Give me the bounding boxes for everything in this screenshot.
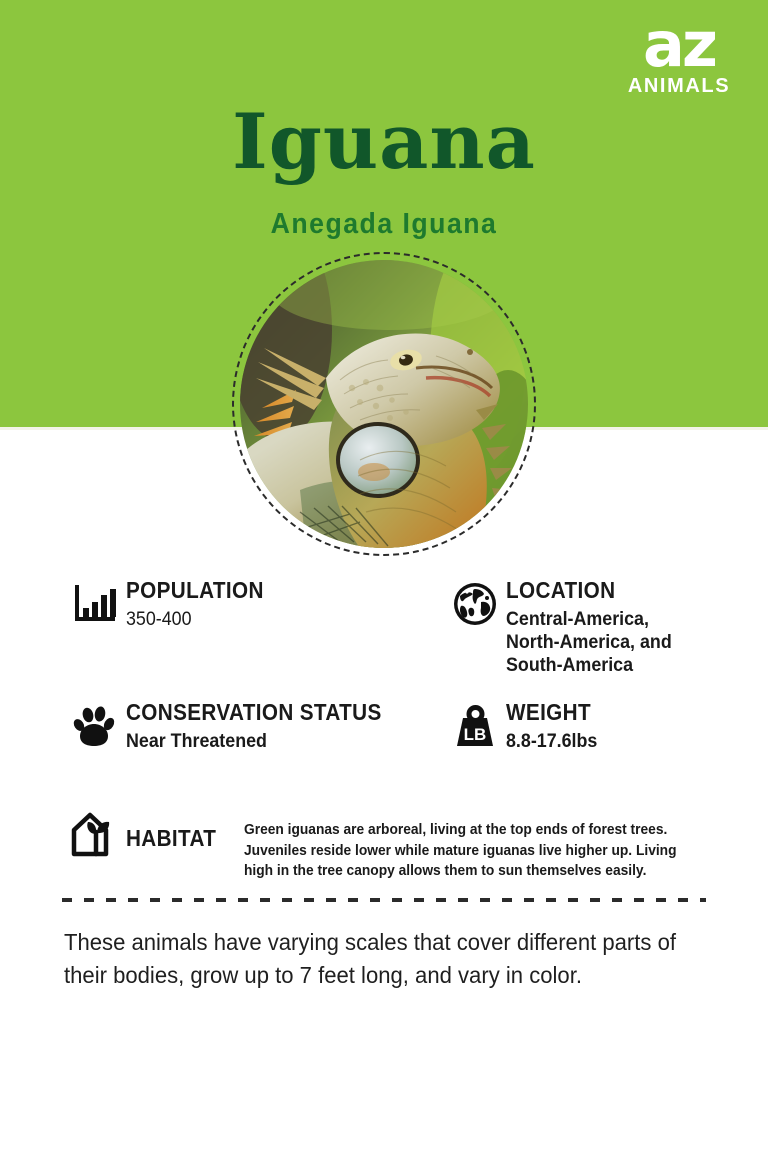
- photo-dashed-ring: [232, 252, 536, 556]
- fact-weight-body: WEIGHT 8.8-17.6lbs: [506, 700, 754, 753]
- page-title: Iguana: [0, 104, 768, 180]
- animal-photo: [232, 252, 536, 556]
- fact-weight-value: 8.8-17.6lbs: [506, 730, 739, 753]
- globe-icon: [444, 578, 506, 628]
- fact-habitat: HABITAT Green iguanas are arboreal, livi…: [64, 806, 724, 882]
- az-animals-logo[interactable]: az ANIMALS: [616, 18, 742, 98]
- fact-conservation-label: CONSERVATION STATUS: [126, 700, 412, 724]
- fact-population: POPULATION 350-400: [64, 578, 424, 631]
- fact-habitat-value: Green iguanas are arboreal, living at th…: [244, 806, 700, 882]
- fact-habitat-label-box: HABITAT: [126, 806, 244, 850]
- fact-location: LOCATION Central-America, North-America,…: [444, 578, 754, 678]
- fact-conservation-value: Near Threatened: [126, 730, 425, 753]
- dashed-divider: [62, 898, 706, 902]
- fact-conservation-status: CONSERVATION STATUS Near Threatened: [64, 700, 444, 753]
- fact-conservation-body: CONSERVATION STATUS Near Threatened: [126, 700, 444, 753]
- house-leaf-icon: [64, 806, 126, 862]
- fact-weight-label: WEIGHT: [506, 700, 729, 724]
- fact-location-line-1: Central-America,: [506, 608, 739, 631]
- az-logo-wordmark: ANIMALS: [616, 75, 742, 98]
- fact-habitat-label: HABITAT: [126, 806, 232, 850]
- fact-population-value: 350-400: [126, 608, 406, 631]
- fact-location-value: Central-America, North-America, and Sout…: [506, 608, 739, 678]
- weight-lb-icon: LB: [444, 700, 506, 750]
- fact-location-label: LOCATION: [506, 578, 729, 602]
- fact-habitat-body: HABITAT Green iguanas are arboreal, livi…: [126, 806, 724, 882]
- svg-text:LB: LB: [464, 725, 487, 744]
- fact-location-line-3: South-America: [506, 654, 739, 677]
- bar-chart-icon: [64, 578, 126, 628]
- page-subtitle: Anegada Iguana: [31, 208, 738, 241]
- az-logo-mark: az: [616, 18, 742, 73]
- fact-location-line-2: North-America, and: [506, 631, 739, 654]
- fact-population-label: POPULATION: [126, 578, 394, 602]
- fact-weight: LB WEIGHT 8.8-17.6lbs: [444, 700, 754, 753]
- fact-location-body: LOCATION Central-America, North-America,…: [506, 578, 754, 678]
- paw-print-icon: [64, 700, 126, 750]
- fact-population-body: POPULATION 350-400: [126, 578, 424, 631]
- description-text: These animals have varying scales that c…: [64, 926, 686, 991]
